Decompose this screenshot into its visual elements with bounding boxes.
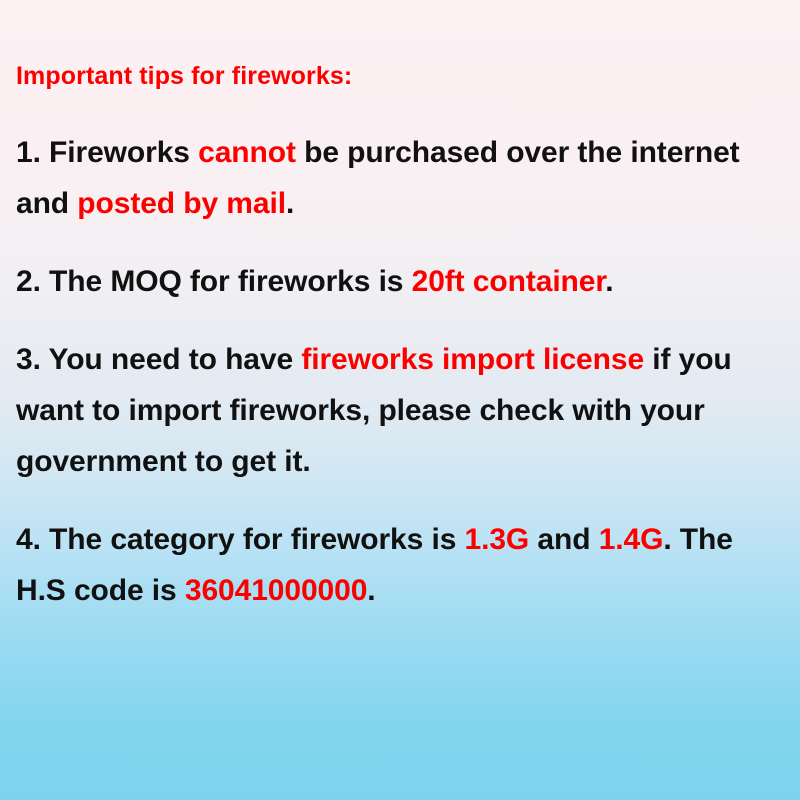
highlighted-text: fireworks import license xyxy=(301,343,644,376)
highlighted-text: cannot xyxy=(198,136,296,169)
page-title: Important tips for fireworks: xyxy=(16,62,782,91)
body-text: 4. The category for fireworks is xyxy=(16,523,465,556)
highlighted-text: 20ft container xyxy=(412,265,606,298)
highlighted-text: 1.3G xyxy=(465,523,530,556)
tip-internet-mail: 1. Fireworks cannot be purchased over th… xyxy=(16,127,782,229)
tips-list: 1. Fireworks cannot be purchased over th… xyxy=(16,127,782,616)
body-text: 3. You need to have xyxy=(16,343,301,376)
tip-import-license: 3. You need to have fireworks import lic… xyxy=(16,334,782,487)
body-text: 1. Fireworks xyxy=(16,136,198,169)
tip-moq: 2. The MOQ for fireworks is 20ft contain… xyxy=(16,256,782,307)
highlighted-text: 1.4G xyxy=(599,523,664,556)
body-text: . xyxy=(605,265,613,298)
body-text: and xyxy=(529,523,599,556)
tip-category-hscode: 4. The category for fireworks is 1.3G an… xyxy=(16,514,782,616)
body-text: . xyxy=(286,187,294,220)
fireworks-notice-card: Important tips for fireworks: 1. Firewor… xyxy=(0,0,800,800)
body-text: 2. The MOQ for fireworks is xyxy=(16,265,412,298)
highlighted-text: posted by mail xyxy=(77,187,286,220)
highlighted-text: 36041000000 xyxy=(185,574,367,607)
body-text: . xyxy=(367,574,375,607)
